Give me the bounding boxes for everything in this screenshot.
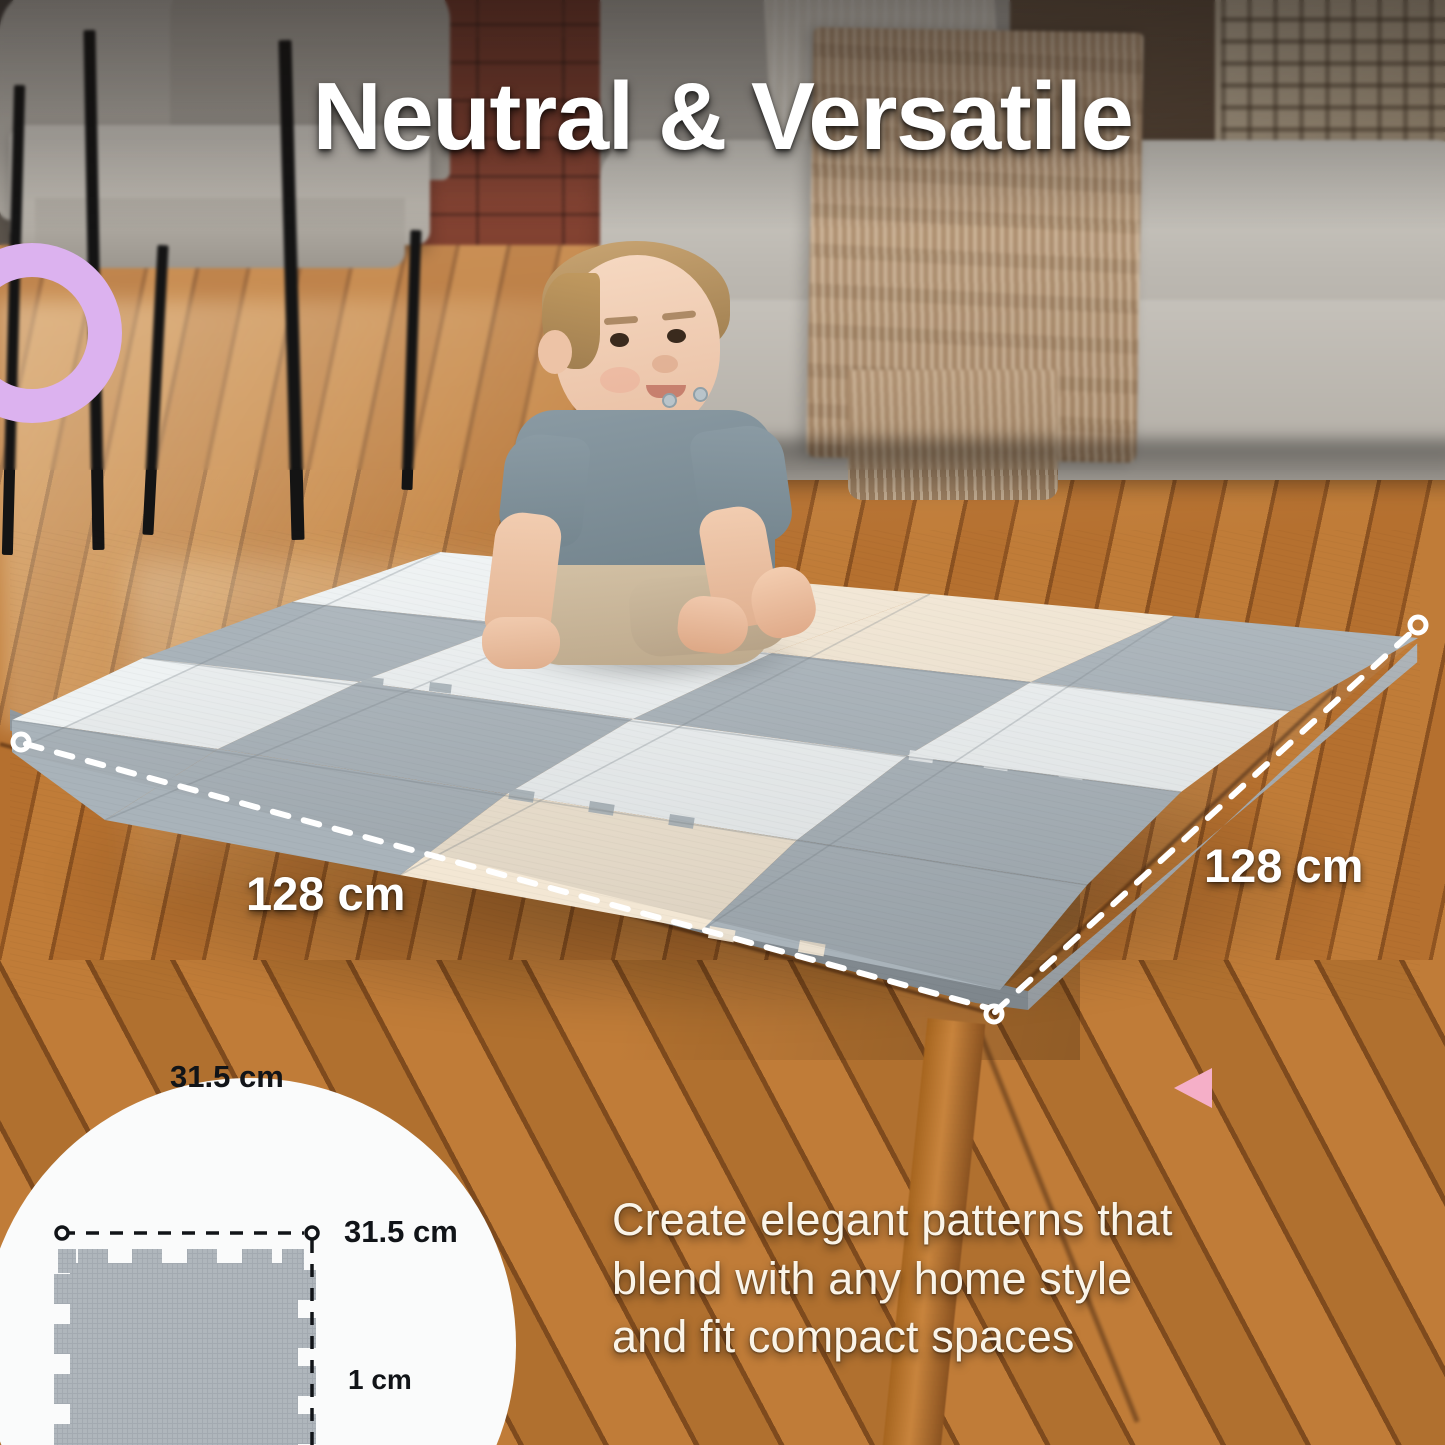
baby-nose [652,355,678,373]
pink-triangle-decoration [1174,1068,1212,1108]
baby-hand-left [482,617,560,669]
tile-thickness-label: 1 cm [348,1364,412,1396]
tile-spec-diagram [0,1078,516,1445]
page-title: Neutral & Versatile [0,62,1445,172]
body-copy-line-3: and fit compact spaces [612,1308,1412,1367]
tile-height-label: 31.5 cm [344,1214,458,1250]
baby-shirt-button [662,393,677,408]
mat-width-label: 128 cm [246,866,405,921]
baby-ear [538,330,572,374]
baby-shirt-button [693,387,708,402]
baby-cheek [600,367,640,393]
body-copy-line-2: blend with any home style [612,1250,1412,1309]
tile-spec-inset [0,1078,516,1445]
product-lifestyle-image: Neutral & Versatile 128 cm 128 cm [0,0,1445,1445]
baby-eye [610,333,629,347]
body-copy-line-1: Create elegant patterns that [612,1191,1412,1250]
baby-eye [667,329,686,343]
body-copy: Create elegant patterns that blend with … [612,1191,1412,1367]
tile-width-label: 31.5 cm [170,1059,284,1095]
baby-on-mat [480,245,825,665]
mat-depth-label: 128 cm [1204,838,1363,893]
